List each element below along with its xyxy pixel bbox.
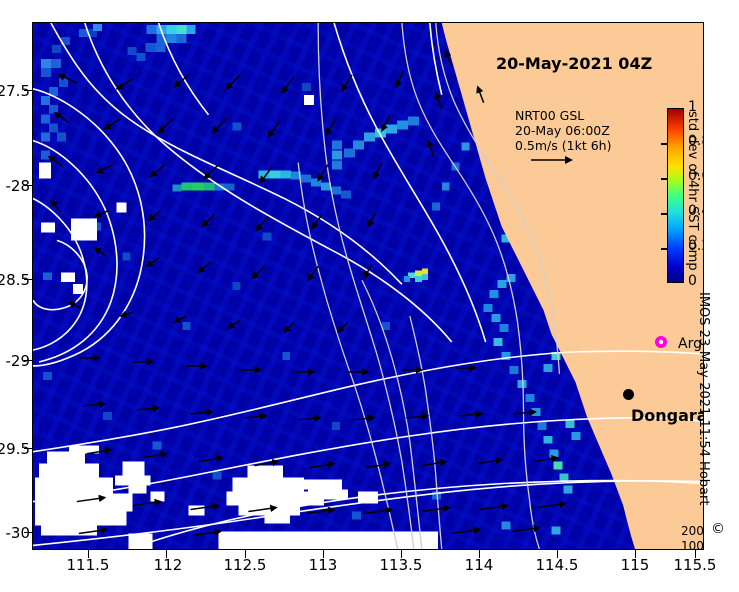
x-tick-label-2: 112.5 <box>205 556 285 574</box>
map-datetime-title: 20-May-2021 04Z <box>496 54 652 73</box>
current-vectors <box>33 23 703 549</box>
colorbar-title: std dev of 4hr SST comp <box>685 111 700 281</box>
sst-variance-map[interactable]: 20-May-2021 04Z NRT00 GSL20-May 06:00Z0.… <box>32 22 704 550</box>
y-tick-label-5: -30 <box>0 524 30 542</box>
current-annotation: NRT00 GSL20-May 06:00Z0.5m/s (1kt 6h) <box>515 108 611 153</box>
y-tick-label-3: -29 <box>0 352 30 370</box>
x-tick-label-1: 112 <box>128 556 208 574</box>
reference-vector-arrow <box>529 153 575 167</box>
y-tick-label-0: -27.5 <box>0 82 30 100</box>
x-tick-label-4: 113.5 <box>361 556 441 574</box>
x-tick-label-3: 113 <box>283 556 363 574</box>
y-tick-label-4: -29.5 <box>0 440 30 458</box>
imos-credit-text: IMOS 23-May-2021 11:54 Hobart <box>696 292 711 542</box>
x-tick-label-5: 114 <box>439 556 519 574</box>
x-tick-label-8: 115.5 <box>655 556 735 574</box>
map-figure: 20-May-2021 04Z NRT00 GSL20-May 06:00Z0.… <box>0 0 739 592</box>
dongara-marker <box>623 389 634 400</box>
y-tick-label-1: -28 <box>0 177 30 195</box>
copyright-symbol: © <box>711 521 725 537</box>
x-tick-label-6: 114.5 <box>517 556 597 574</box>
annotation-line-3: 0.5m/s (1kt 6h) <box>515 138 611 153</box>
y-tick-label-2: -28.5 <box>0 271 30 289</box>
argo-marker-icon <box>653 334 669 350</box>
dongara-label: Dongara <box>631 406 704 425</box>
x-tick-label-0: 111.5 <box>48 556 128 574</box>
annotation-line-1: NRT00 GSL <box>515 108 584 123</box>
colorbar <box>667 108 684 283</box>
annotation-line-2: 20-May 06:00Z <box>515 123 610 138</box>
